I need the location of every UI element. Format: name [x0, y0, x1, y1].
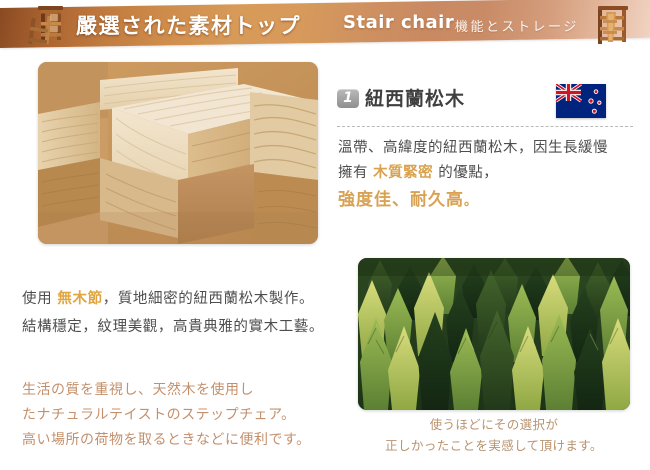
lower-left-line-1: 使用 無木節，質地細密的紐西蘭松木製作。 — [22, 285, 332, 313]
description-highlight-density: 木質緊密 — [373, 165, 433, 181]
description-line-2-prefix: 擁有 — [338, 165, 368, 181]
description-line-2: 擁有 木質緊密 的優點， — [338, 161, 634, 186]
step-ladder-chair-icon-right — [592, 0, 636, 48]
number-badge: 1 — [337, 89, 359, 108]
forest-caption-line-1: 使うほどにその選択が — [358, 414, 630, 435]
japanese-line-3: 高い場所の荷物を取るときなどに便利です。 — [22, 428, 342, 453]
banner-english-title: Stair chair — [343, 12, 454, 33]
product-feature-page: 嚴選された素材トップ Stair chair 機能とストレージ — [0, 0, 650, 470]
banner-title: 嚴選された素材トップ — [76, 10, 301, 40]
material-description: 溫帶、高緯度的紐西蘭松木，因生長緩慢 擁有 木質緊密 的優點， 強度佳、耐久高。 — [338, 136, 634, 216]
lower-left-description: 使用 無木節，質地細密的紐西蘭松木製作。 結構穩定，紋理美觀，高貴典雅的實木工藝… — [22, 285, 332, 341]
material-info-block: 1 紐西蘭松木 — [337, 84, 633, 118]
forest-photo — [358, 258, 630, 410]
section-divider — [337, 126, 633, 127]
lower-left-line-2: 結構穩定，紋理美觀，高貴典雅的實木工藝。 — [22, 313, 332, 341]
forest-caption: 使うほどにその選択が 正しかったことを実感して頂けます。 — [358, 414, 630, 456]
lower-left-line-1-suffix: ，質地細密的紐西蘭松木製作。 — [103, 291, 314, 307]
banner-japanese-subtitle: 機能とストレージ — [455, 16, 579, 35]
japanese-line-1: 生活の質を重視し、天然木を使用し — [22, 378, 342, 403]
lower-left-highlight-knotfree: 無木節 — [57, 291, 102, 307]
wood-closeup-photo — [38, 62, 318, 244]
japanese-line-2: たナチュラルテイストのステップチェア。 — [22, 403, 342, 428]
description-strength-period: 。 — [464, 194, 478, 209]
description-strength-text: 強度佳、耐久高 — [338, 190, 464, 210]
new-zealand-flag-icon — [556, 84, 606, 118]
header-banner: 嚴選された素材トップ Stair chair 機能とストレージ — [0, 0, 650, 48]
lower-left-line-1-prefix: 使用 — [22, 291, 52, 307]
description-line-2-suffix: 的優點， — [438, 165, 498, 181]
japanese-description-block: 生活の質を重視し、天然木を使用し たナチュラルテイストのステップチェア。 高い場… — [22, 378, 342, 453]
material-title: 紐西蘭松木 — [365, 84, 465, 111]
step-ladder-chair-icon-left — [24, 0, 68, 48]
description-line-3: 強度佳、耐久高。 — [338, 186, 634, 216]
forest-caption-line-2: 正しかったことを実感して頂けます。 — [358, 435, 630, 456]
material-info-header: 1 紐西蘭松木 — [337, 84, 633, 118]
description-line-1: 溫帶、高緯度的紐西蘭松木，因生長緩慢 — [338, 136, 634, 161]
